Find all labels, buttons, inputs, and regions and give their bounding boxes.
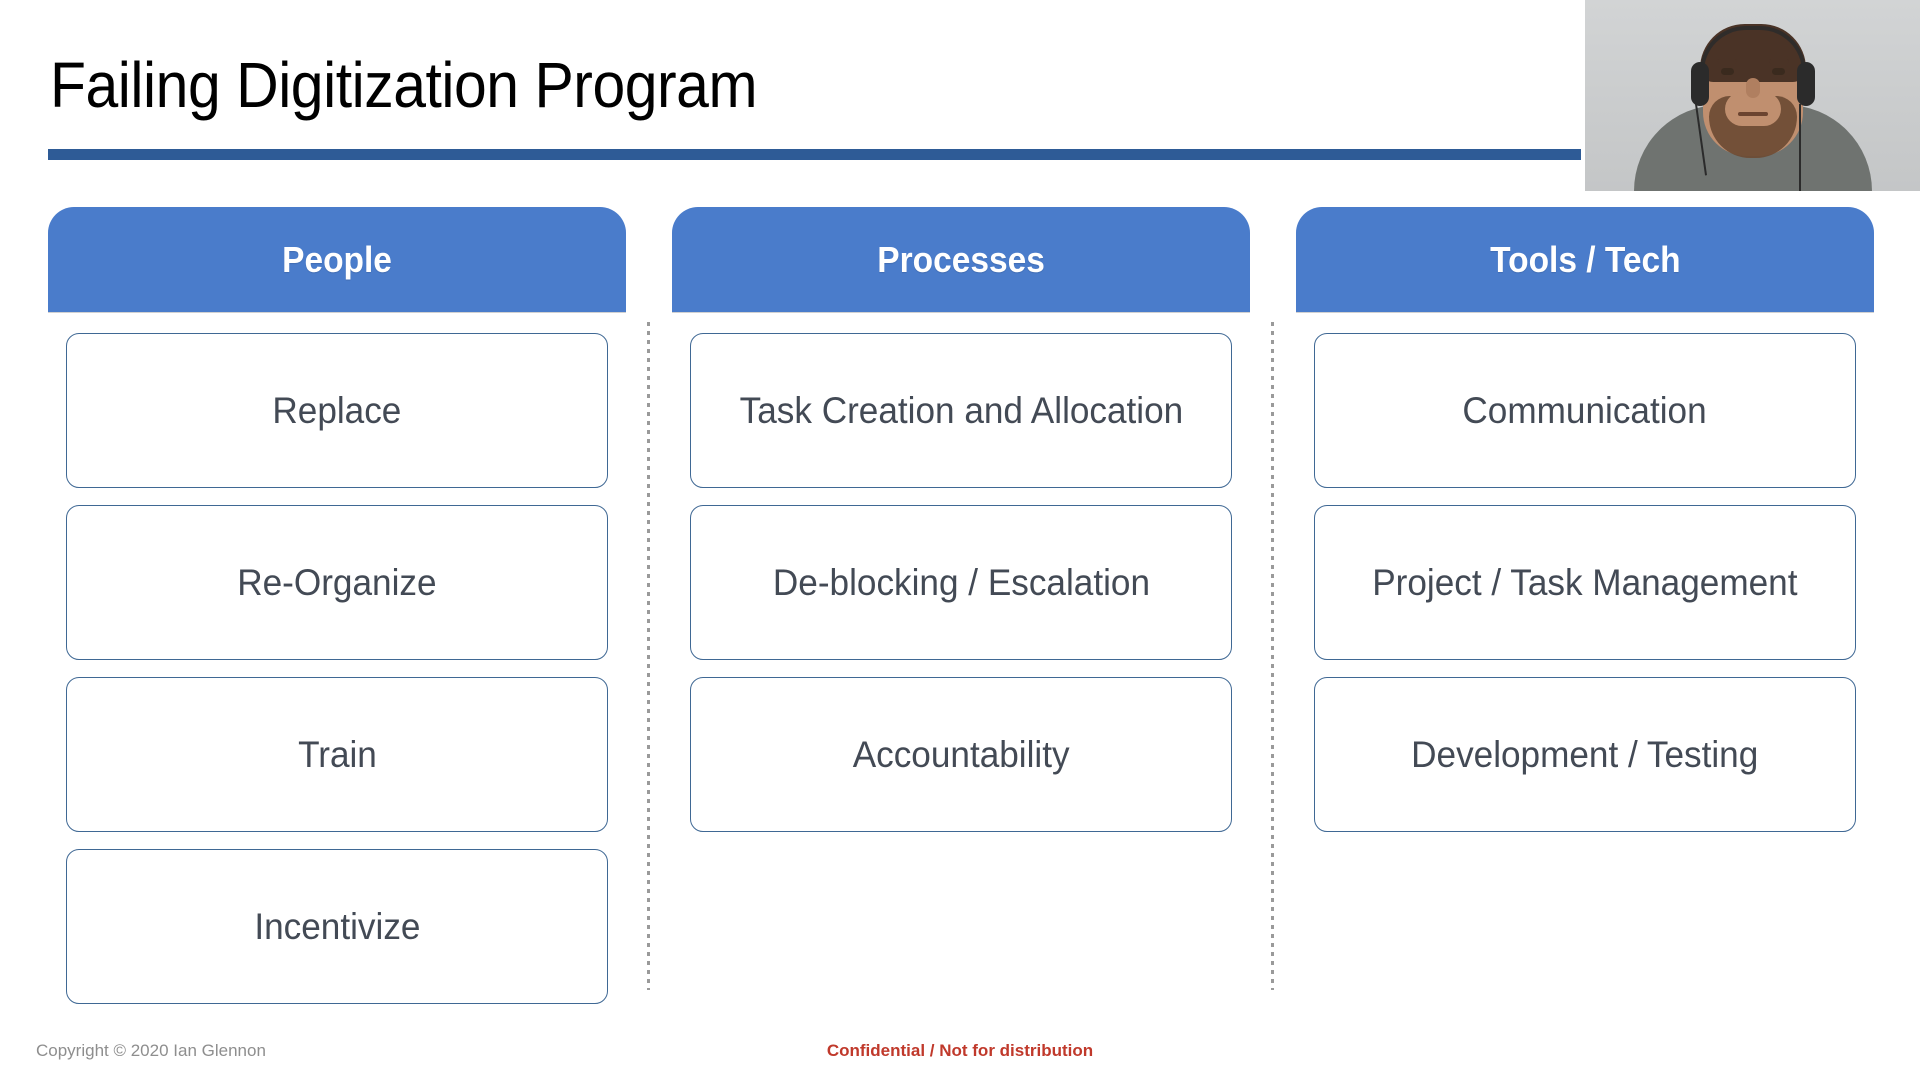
card-label: Communication: [1463, 387, 1707, 434]
card-label: De-blocking / Escalation: [772, 559, 1149, 606]
headset-cord-icon: [1799, 104, 1801, 191]
card-item[interactable]: De-blocking / Escalation: [690, 505, 1232, 660]
column-header-label: Processes: [877, 239, 1045, 281]
headset-earcup-right-icon: [1797, 62, 1815, 106]
webcam-video-frame: [1585, 0, 1920, 191]
footer-confidentiality-notice: Confidential / Not for distribution: [0, 1041, 1920, 1061]
column-tools-tech: Tools / Tech Communication Project / Tas…: [1296, 207, 1874, 849]
card-item[interactable]: Communication: [1314, 333, 1856, 488]
column-divider: [647, 322, 650, 990]
presenter-webcam-overlay[interactable]: [1585, 0, 1920, 191]
column-header-processes[interactable]: Processes: [672, 207, 1250, 312]
card-item[interactable]: Accountability: [690, 677, 1232, 832]
card-label: Replace: [273, 387, 402, 434]
column-header-people[interactable]: People: [48, 207, 626, 312]
card-list-processes: Task Creation and Allocation De-blocking…: [672, 333, 1250, 832]
card-label: Incentivize: [254, 903, 420, 950]
card-label: Accountability: [853, 731, 1070, 778]
column-header-label: Tools / Tech: [1490, 239, 1680, 281]
card-label: Train: [298, 731, 377, 778]
card-label: Project / Task Management: [1372, 559, 1797, 606]
card-item[interactable]: Incentivize: [66, 849, 608, 1004]
card-item[interactable]: Development / Testing: [1314, 677, 1856, 832]
column-people: People Replace Re-Organize Train Incenti…: [48, 207, 626, 1021]
presentation-slide: Failing Digitization Program People Repl…: [0, 0, 1920, 1080]
card-item[interactable]: Re-Organize: [66, 505, 608, 660]
presenter-nose: [1746, 78, 1760, 98]
card-item[interactable]: Train: [66, 677, 608, 832]
card-item[interactable]: Project / Task Management: [1314, 505, 1856, 660]
column-header-label: People: [282, 239, 392, 281]
card-label: Re-Organize: [237, 559, 436, 606]
presenter-mouth: [1738, 112, 1768, 116]
headset-earcup-left-icon: [1691, 62, 1709, 106]
column-divider: [1271, 322, 1274, 990]
card-item[interactable]: Replace: [66, 333, 608, 488]
card-label: Task Creation and Allocation: [739, 387, 1183, 434]
card-item[interactable]: Task Creation and Allocation: [690, 333, 1232, 488]
card-list-people: Replace Re-Organize Train Incentivize: [48, 333, 626, 1004]
column-processes: Processes Task Creation and Allocation D…: [672, 207, 1250, 849]
column-header-tools-tech[interactable]: Tools / Tech: [1296, 207, 1874, 312]
card-label: Development / Testing: [1411, 731, 1758, 778]
card-list-tools-tech: Communication Project / Task Management …: [1296, 333, 1874, 832]
